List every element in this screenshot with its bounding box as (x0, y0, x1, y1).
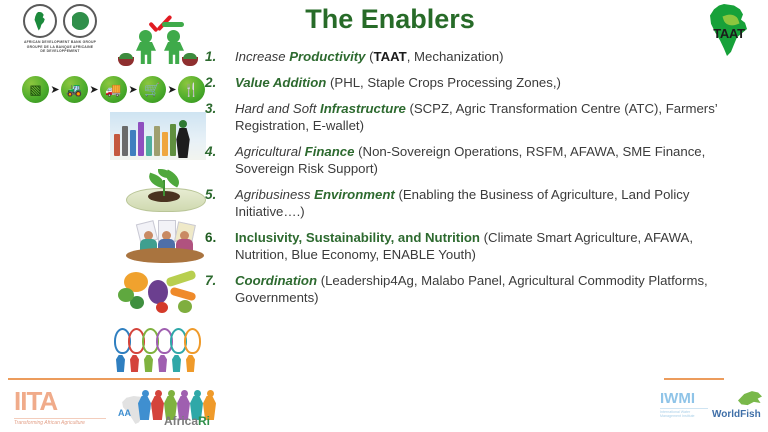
farmer-figure-left (134, 30, 158, 64)
coordination-person-5 (170, 328, 183, 372)
truck-node-icon: 🚚 (100, 76, 127, 103)
africarice-logo: AA AfricaRi (112, 382, 242, 430)
enabler-key-2: Value Addition (235, 75, 326, 90)
enabler-lead-1: Increase (235, 49, 289, 64)
enabler-strong-1: TAAT (374, 49, 407, 64)
infrastructure-icon (110, 112, 206, 160)
enabler-item-5: 5. Agribusiness Environment (Enabling th… (205, 186, 745, 220)
coordination-person-4 (156, 328, 169, 372)
chain-arrow-1-icon: ➤ (49, 83, 61, 96)
taat-logo-text: TAAT (703, 26, 755, 41)
enabler-key-1: Productivity (289, 49, 365, 64)
enabler-number-5: 5. (205, 186, 235, 202)
enabler-item-7: 7. Coordination (Leadership4Ag, Malabo P… (205, 272, 745, 306)
enabler-rest-post-1: , Mechanization) (407, 49, 504, 64)
value-chain-icon: ▧ ➤ 🚜 ➤ 🚚 ➤ 🛒 ➤ 🍴 (22, 74, 208, 104)
corn-icon (165, 270, 196, 288)
shopping-cart-node-icon: 🛒 (139, 76, 166, 103)
tractor-node-icon: 🚜 (61, 76, 88, 103)
avocado-icon (178, 300, 192, 313)
seed-field-node-icon: ▧ (22, 76, 49, 103)
infrastructure-person-icon (174, 120, 192, 158)
harvest-basket-right-icon (182, 57, 198, 66)
coordination-person-6 (184, 328, 197, 372)
seedling-on-money-icon (122, 168, 208, 214)
coordination-person-2 (128, 328, 141, 372)
meeting-table-icon (122, 220, 208, 264)
iita-logo: IITA Transforming African Agriculture (14, 386, 106, 426)
africarice-person-1 (138, 390, 151, 420)
enabler-rest-pre-2: (PHL, Staple Crops Processing Zones,) (326, 75, 561, 90)
eggplant-icon (148, 280, 168, 304)
enabler-key-5: Environment (314, 187, 395, 202)
enabler-item-4: 4. Agricultural Finance (Non-Sovereign O… (205, 143, 745, 177)
farmer-hat-icon (162, 22, 184, 27)
round-table-icon (126, 248, 204, 263)
enabler-number-1: 1. (205, 48, 235, 64)
iwmi-logo-text: IWMI (660, 390, 708, 407)
enabler-text-1: Increase Productivity (TAAT, Mechanizati… (235, 48, 504, 65)
enabler-key-4: Finance (305, 144, 355, 159)
footer-logo-bar: IITA Transforming African Agriculture AA… (0, 382, 768, 432)
iita-logo-text: IITA (14, 386, 106, 417)
enabler-text-6: Inclusivity, Sustainability, and Nutriti… (235, 229, 745, 263)
africarice-word-green: Ri (198, 414, 210, 428)
lettuce-icon (118, 288, 134, 302)
footer-divider-right (664, 378, 724, 380)
enabler-text-7: Coordination (Leadership4Ag, Malabo Pane… (235, 272, 745, 306)
enabler-number-3: 3. (205, 100, 235, 116)
farmers-with-checkmark-icon (118, 20, 200, 66)
worldfish-fish-icon (738, 390, 762, 408)
africarice-person-2 (151, 390, 164, 420)
africarice-aa-text: AA (118, 408, 131, 418)
worldfish-logo: WorldFish (712, 390, 764, 422)
enabler-rest-pre-1: ( (365, 49, 373, 64)
footer-divider-left (8, 378, 180, 380)
iwmi-logo-tagline: International Water Management Institute (660, 408, 708, 418)
coordination-person-1 (114, 328, 127, 372)
chain-arrow-3-icon: ➤ (127, 83, 139, 96)
enabler-key-7: Coordination (235, 273, 317, 288)
enabler-number-2: 2. (205, 74, 235, 90)
enabler-text-5: Agribusiness Environment (Enabling the B… (235, 186, 745, 220)
enabler-item-1: 1. Increase Productivity (TAAT, Mechaniz… (205, 48, 745, 65)
enabler-text-2: Value Addition (PHL, Staple Crops Proces… (235, 74, 561, 91)
enabler-list: 1. Increase Productivity (TAAT, Mechaniz… (205, 48, 745, 315)
harvest-basket-left-icon (118, 57, 134, 66)
enabler-lead-3: Hard and Soft (235, 101, 320, 116)
enabler-number-4: 4. (205, 143, 235, 159)
enabler-item-2: 2. Value Addition (PHL, Staple Crops Pro… (205, 74, 745, 91)
tomato-icon (156, 302, 168, 313)
enabler-number-7: 7. (205, 272, 235, 288)
iita-logo-tagline: Transforming African Agriculture (14, 418, 106, 426)
enabler-lead-5: Agribusiness (235, 187, 314, 202)
coordination-person-3 (142, 328, 155, 372)
vegetables-icon (118, 270, 210, 318)
enabler-icon-column: ▧ ➤ 🚜 ➤ 🚚 ➤ 🛒 ➤ 🍴 (18, 18, 208, 374)
enabler-text-3: Hard and Soft Infrastructure (SCPZ, Agri… (235, 100, 745, 134)
chain-arrow-2-icon: ➤ (88, 83, 100, 96)
utensils-node-icon: 🍴 (178, 76, 205, 103)
page-title: The Enablers (180, 4, 600, 35)
chain-arrow-4-icon: ➤ (166, 83, 178, 96)
africarice-logo-text: AfricaRi (164, 414, 210, 428)
africarice-word-gray: Africa (164, 414, 198, 428)
enabler-key-3: Infrastructure (320, 101, 406, 116)
coordination-people-icon (114, 326, 210, 372)
worldfish-logo-text: WorldFish (712, 409, 761, 420)
enabler-key-6: Inclusivity, Sustainability, and Nutriti… (235, 230, 480, 245)
enabler-item-3: 3. Hard and Soft Infrastructure (SCPZ, A… (205, 100, 745, 134)
enabler-lead-4: Agricultural (235, 144, 305, 159)
enabler-text-4: Agricultural Finance (Non-Sovereign Oper… (235, 143, 745, 177)
enabler-number-6: 6. (205, 229, 235, 245)
iwmi-logo: IWMI International Water Management Inst… (660, 390, 708, 422)
enabler-item-6: 6. Inclusivity, Sustainability, and Nutr… (205, 229, 745, 263)
